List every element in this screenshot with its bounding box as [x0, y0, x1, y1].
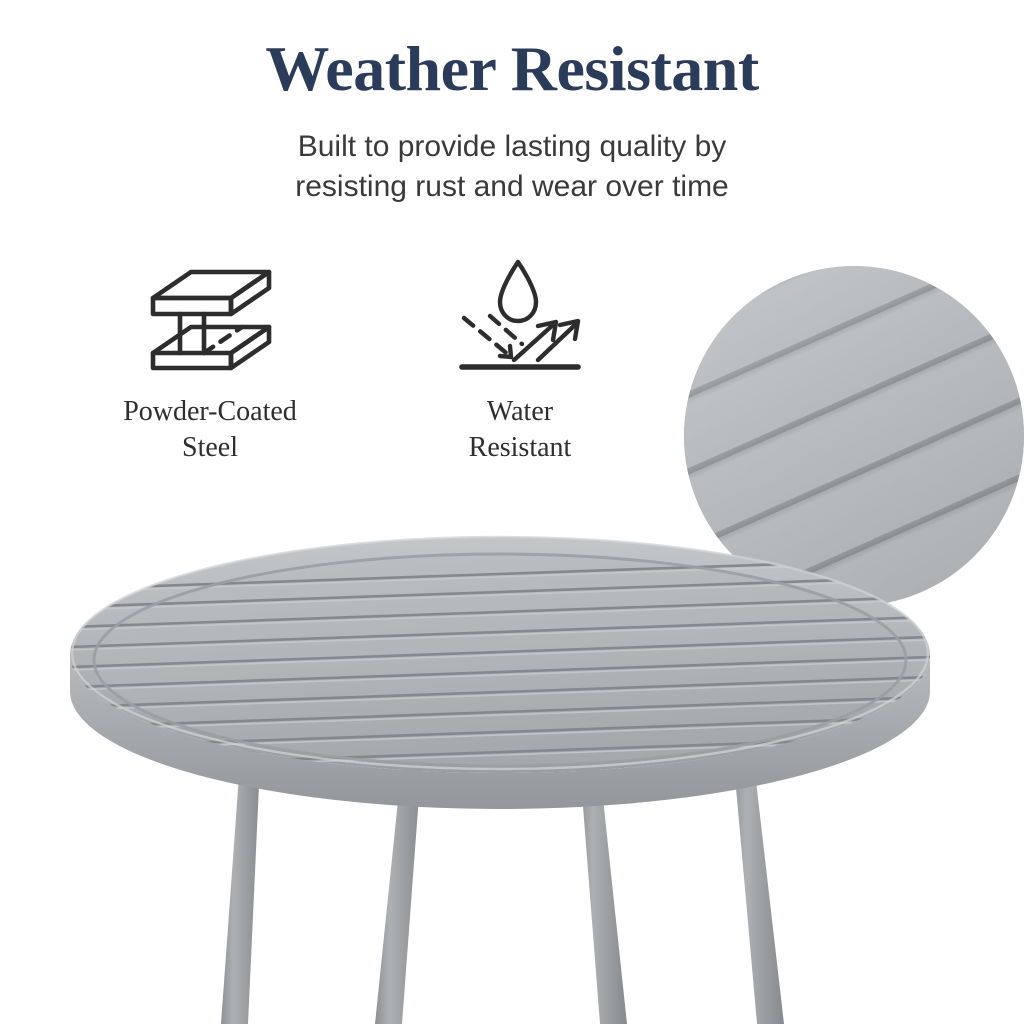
- feature-caption-line-1: Powder-Coated: [60, 394, 360, 430]
- feature-caption-line-2: Resistant: [370, 430, 670, 466]
- feature-powder-coated-steel: Powder-Coated Steel: [60, 248, 360, 466]
- subtitle-line-2: resisting rust and wear over time: [0, 167, 1024, 207]
- feature-caption: Water Resistant: [370, 394, 670, 466]
- feature-list: Powder-Coated Steel: [40, 248, 680, 478]
- subtitle-line-1: Built to provide lasting quality by: [0, 127, 1024, 167]
- marketing-image-canvas: Weather Resistant Built to provide lasti…: [0, 0, 1024, 1024]
- feature-caption-line-1: Water: [370, 394, 670, 430]
- feature-caption: Powder-Coated Steel: [60, 394, 360, 466]
- product-illustration: [0, 470, 1024, 1024]
- feature-caption-line-2: Steel: [60, 430, 360, 466]
- feature-water-resistant: Water Resistant: [370, 248, 670, 466]
- water-repellent-icon: [370, 248, 670, 378]
- page-subtitle: Built to provide lasting quality by resi…: [0, 127, 1024, 206]
- i-beam-icon: [60, 248, 360, 378]
- page-title: Weather Resistant: [0, 36, 1024, 101]
